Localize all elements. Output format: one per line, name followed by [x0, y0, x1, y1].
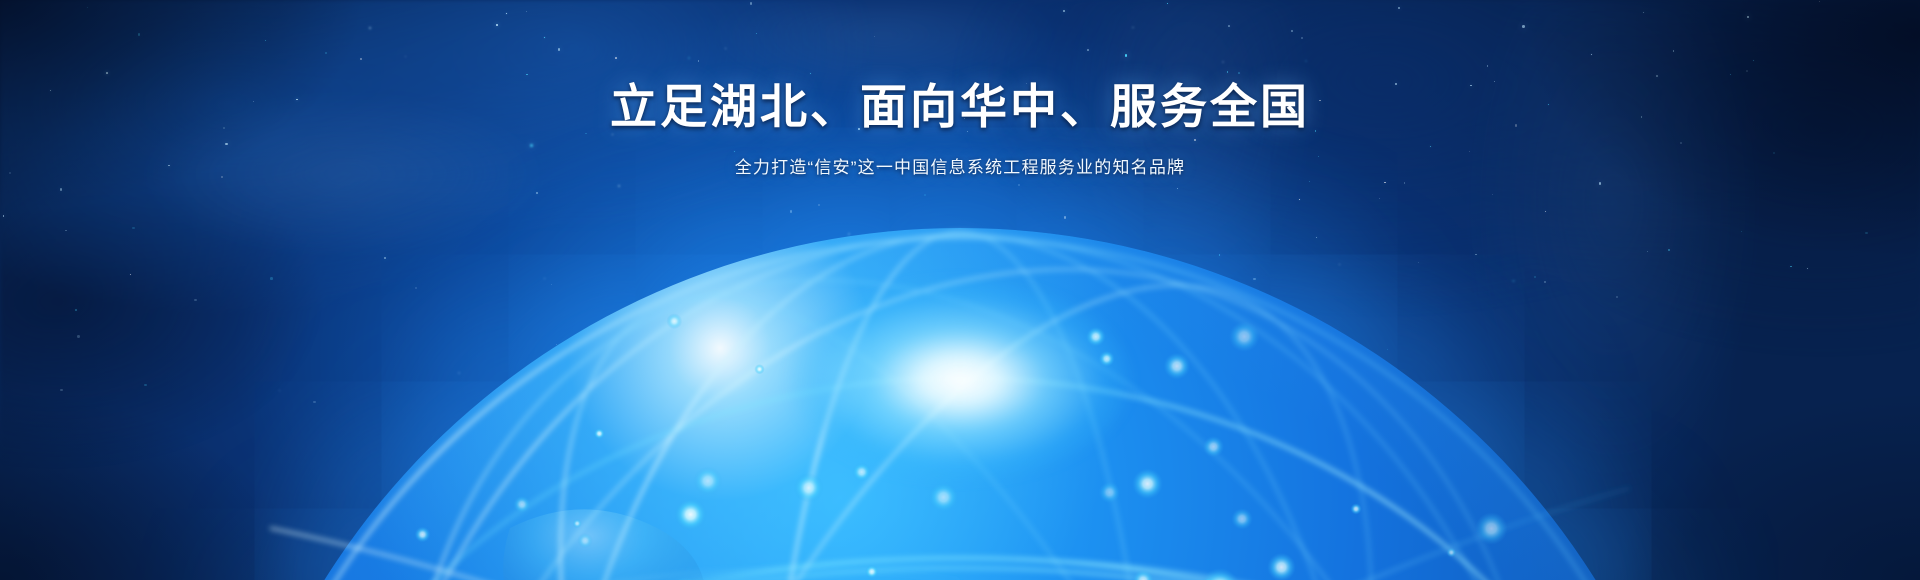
hero-banner: 立足湖北、面向华中、服务全国 全力打造“信安”这一中国信息系统工程服务业的知名品…: [0, 0, 1920, 580]
banner-copy: 立足湖北、面向华中、服务全国 全力打造“信安”这一中国信息系统工程服务业的知名品…: [0, 78, 1920, 178]
banner-title: 立足湖北、面向华中、服务全国: [0, 78, 1920, 135]
banner-subtitle: 全力打造“信安”这一中国信息系统工程服务业的知名品牌: [0, 153, 1920, 178]
